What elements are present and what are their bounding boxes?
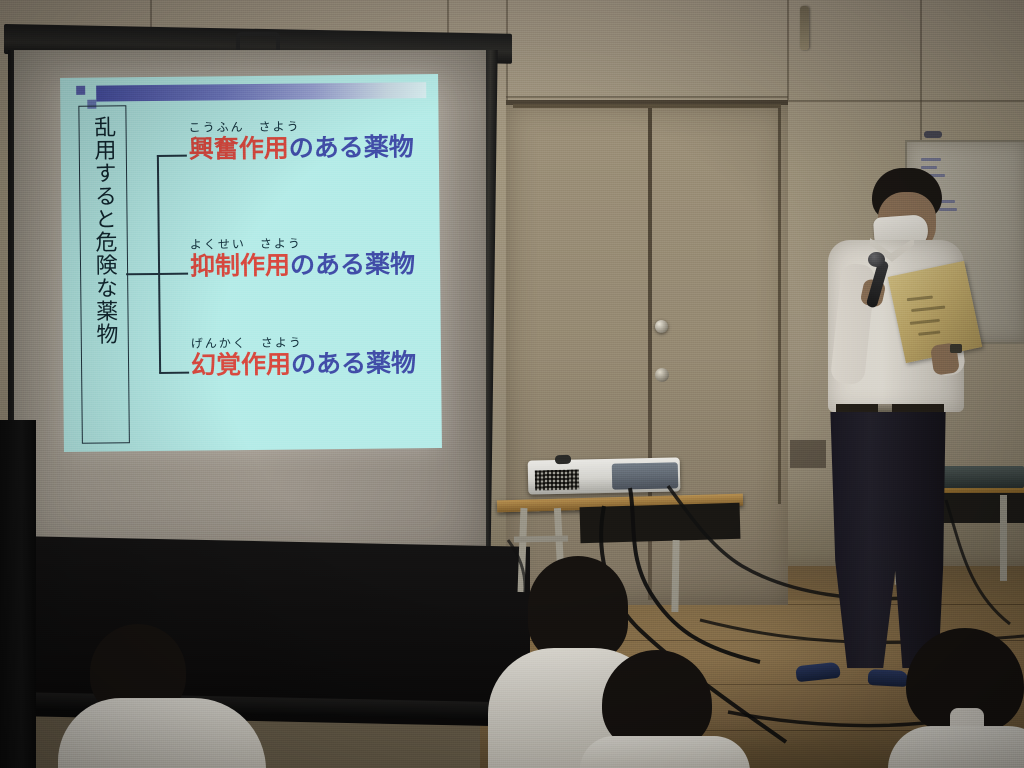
student-front-left (60, 624, 260, 768)
desk-leg (1000, 495, 1007, 581)
slide-item: こうふん さよう 興奮作用のある薬物 (188, 116, 413, 161)
door-lock-icon[interactable] (655, 368, 669, 382)
door-knob-icon[interactable] (655, 320, 668, 333)
slide-title-vertical-text: 乱用すると危険な薬物 (91, 115, 118, 433)
bracket-stem (126, 273, 158, 275)
projector-cable-cluster (612, 462, 679, 489)
wristwatch-icon (950, 344, 962, 353)
presenter-left-shoe (795, 662, 840, 683)
notes-writing (910, 319, 940, 325)
notes-writing (911, 306, 945, 313)
slide-item-text: 抑制作用のある薬物 (190, 251, 415, 278)
desk-leg (671, 540, 679, 612)
wall-seam (787, 100, 1024, 102)
student-right (892, 628, 1024, 768)
whiteboard-clip (924, 131, 942, 138)
projector-lens-icon (555, 455, 571, 464)
wall-seam (920, 0, 922, 140)
left-shadow-area (0, 420, 36, 768)
projected-slide: 乱用すると危険な薬物 こうふん さよう 興奮作用のある薬物 よくせい さよう 抑… (60, 74, 442, 452)
slide-item: げんかく さよう 幻覚作用のある薬物 (191, 332, 416, 377)
student-hair (602, 650, 712, 750)
bracket-branch (157, 155, 187, 157)
photograph-scene: 乱用すると危険な薬物 こうふん さよう 興奮作用のある薬物 よくせい さよう 抑… (0, 0, 1024, 768)
whiteboard-mark (921, 158, 941, 161)
presenter (800, 168, 990, 698)
slide-item-keyword: 興奮作用 (189, 134, 289, 164)
wall-hook (800, 6, 809, 50)
slide-item-rest: のある薬物 (291, 348, 416, 378)
slide-item-text: 興奮作用のある薬物 (189, 134, 414, 161)
notes-writing (918, 331, 940, 336)
slide-item: よくせい さよう 抑制作用のある薬物 (190, 233, 415, 278)
wall-seam (506, 96, 788, 98)
slide-title-box: 乱用すると危険な薬物 (78, 105, 130, 443)
bracket-vertical (157, 155, 161, 373)
slide-item-rest: のある薬物 (290, 249, 415, 279)
student-center-right (586, 650, 746, 768)
student-uniform (58, 698, 266, 768)
wall-seam (787, 0, 789, 100)
desk-rail (514, 536, 568, 543)
projector-vent-grille (535, 470, 579, 491)
microphone-head-icon (868, 252, 885, 267)
slide-item-rest: のある薬物 (289, 132, 414, 162)
slide-header-bar (96, 82, 426, 101)
bracket-branch (158, 273, 188, 275)
projector-desk-body (580, 503, 741, 543)
student-hair (528, 556, 628, 662)
door-right-edge (778, 104, 781, 504)
student-uniform (580, 736, 750, 768)
slide-item-text: 幻覚作用のある薬物 (191, 350, 416, 377)
bracket-branch (159, 372, 189, 374)
slide-item-keyword: 抑制作用 (190, 251, 290, 281)
door-top-rail (513, 104, 781, 108)
student-uniform (888, 726, 1024, 768)
slide-item-keyword: 幻覚作用 (191, 350, 291, 380)
notes-writing (907, 296, 933, 302)
slide-decor-square (76, 86, 85, 95)
